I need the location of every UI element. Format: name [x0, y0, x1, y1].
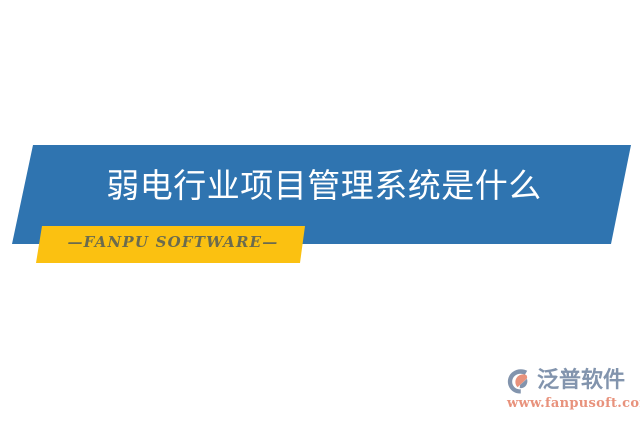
page-title: 弱电行业项目管理系统是什么 — [0, 164, 640, 208]
slide-canvas: 弱电行业项目管理系统是什么 —FANPU SOFTWARE— 泛普软件 www.… — [0, 0, 640, 427]
brand-name: 泛普软件 — [537, 368, 625, 394]
banner-shape-svg — [0, 0, 640, 427]
banner-subtitle: —FANPU SOFTWARE— — [42, 232, 304, 252]
banner-shapes — [0, 0, 640, 427]
brand-url: www.fanpusoft.com — [507, 395, 640, 412]
logo-row: 泛普软件 — [505, 366, 625, 396]
fanpu-circle-logo-icon — [505, 367, 534, 396]
watermark-logo: 泛普软件 www.fanpusoft.com — [505, 366, 635, 418]
